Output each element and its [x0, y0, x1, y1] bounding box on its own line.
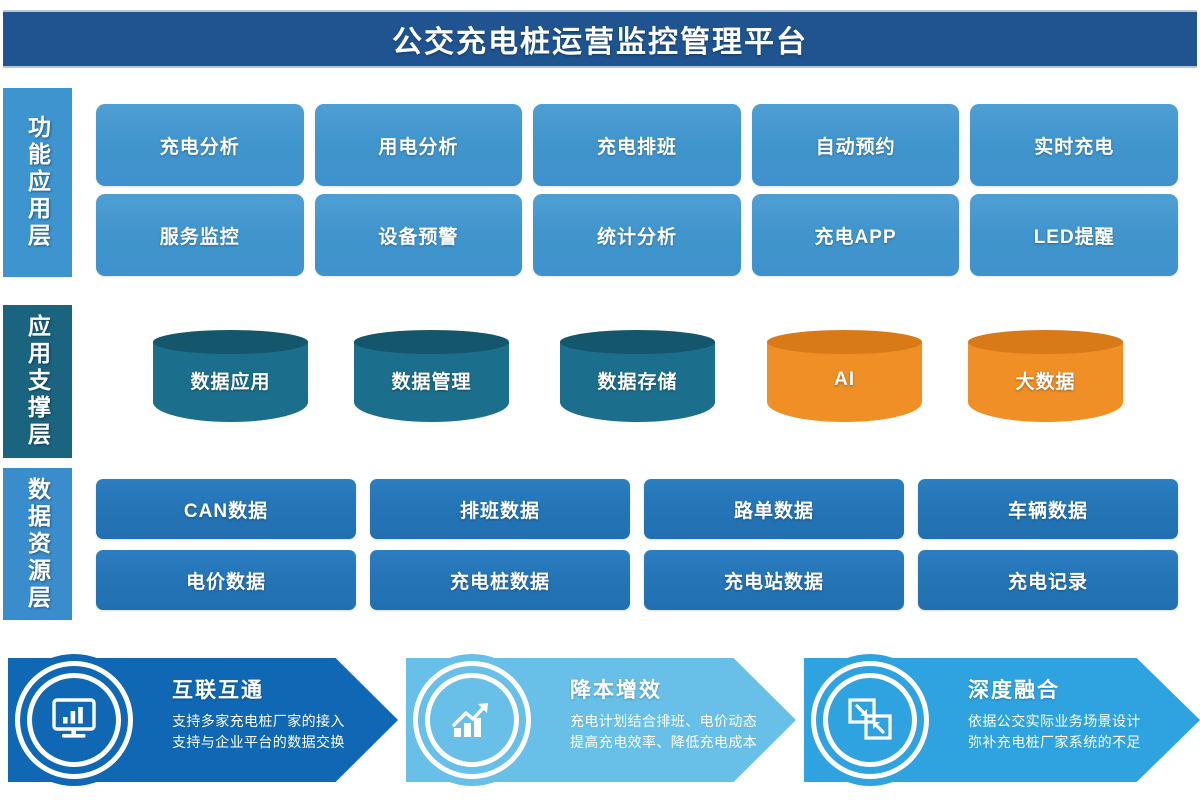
banner-line1-1: 充电计划结合排班、电价动态: [570, 711, 757, 732]
banner-title-0: 互联互通: [172, 674, 345, 704]
data-item-1[interactable]: 排班数据: [370, 479, 630, 539]
function-item-0[interactable]: 充电分析: [96, 104, 304, 186]
banner-title-2: 深度融合: [968, 674, 1141, 704]
banner-icon-rings: [8, 654, 140, 786]
banner-line2-0: 支持与企业平台的数据交换: [172, 732, 345, 753]
banner-icon-rings: [804, 654, 936, 786]
diagram-canvas: 公交充电桩运营监控管理平台 功能应用层 应用支撑层 数据资源层 充电分析 用电分…: [0, 0, 1200, 800]
function-item-2[interactable]: 充电排班: [533, 104, 741, 186]
highlights-row: 互联互通 支持多家充电桩厂家的接入 支持与企业平台的数据交换: [0, 640, 1200, 800]
banner-line1-0: 支持多家充电桩厂家的接入: [172, 711, 345, 732]
data-item-5[interactable]: 充电桩数据: [370, 550, 630, 610]
banner-texts: 降本增效 充电计划结合排班、电价动态 提高充电效率、降低充电成本: [570, 674, 757, 753]
data-item-3[interactable]: 车辆数据: [918, 479, 1178, 539]
banner-title-1: 降本增效: [570, 674, 757, 704]
support-cylinder-4[interactable]: 大数据: [968, 330, 1123, 430]
banner-texts: 互联互通 支持多家充电桩厂家的接入 支持与企业平台的数据交换: [172, 674, 345, 753]
page-title: 公交充电桩运营监控管理平台: [392, 17, 808, 61]
banner-line1-2: 依据公交实际业务场景设计: [968, 711, 1141, 732]
function-item-7[interactable]: 统计分析: [533, 194, 741, 276]
banner-texts: 深度融合 依据公交实际业务场景设计 弥补充电桩厂家系统的不足: [968, 674, 1141, 753]
data-item-0[interactable]: CAN数据: [96, 479, 356, 539]
support-cylinder-0[interactable]: 数据应用: [153, 330, 308, 430]
layer-label-function: 功能应用层: [3, 88, 72, 277]
banner-icon-rings: [406, 654, 538, 786]
growth-chart-icon: [430, 678, 514, 762]
function-item-1[interactable]: 用电分析: [315, 104, 523, 186]
data-item-7[interactable]: 充电记录: [918, 550, 1178, 610]
support-cylinder-label-0: 数据应用: [153, 330, 308, 430]
banner-line2-1: 提高充电效率、降低充电成本: [570, 732, 757, 753]
page-title-bar: 公交充电桩运营监控管理平台: [3, 10, 1197, 68]
function-item-9[interactable]: LED提醒: [970, 194, 1178, 276]
data-item-2[interactable]: 路单数据: [644, 479, 904, 539]
monitor-chart-icon: [32, 678, 116, 762]
support-cylinder-1[interactable]: 数据管理: [354, 330, 509, 430]
data-item-4[interactable]: 电价数据: [96, 550, 356, 610]
support-cylinder-label-2: 数据存储: [560, 330, 715, 430]
layer-label-support: 应用支撑层: [3, 305, 72, 458]
highlight-banner-2[interactable]: 深度融合 依据公交实际业务场景设计 弥补充电桩厂家系统的不足: [796, 640, 1196, 800]
banner-line2-2: 弥补充电桩厂家系统的不足: [968, 732, 1141, 753]
function-item-5[interactable]: 服务监控: [96, 194, 304, 276]
support-cylinder-3[interactable]: AI: [767, 330, 922, 430]
support-cylinder-label-1: 数据管理: [354, 330, 509, 430]
function-item-4[interactable]: 实时充电: [970, 104, 1178, 186]
support-layer-row: 数据应用 数据管理 数据存储 AI 大数据: [96, 330, 1178, 438]
function-item-6[interactable]: 设备预警: [315, 194, 523, 276]
highlight-banner-0[interactable]: 互联互通 支持多家充电桩厂家的接入 支持与企业平台的数据交换: [0, 640, 400, 800]
highlight-banner-1[interactable]: 降本增效 充电计划结合排班、电价动态 提高充电效率、降低充电成本: [398, 640, 798, 800]
function-layer-grid: 充电分析 用电分析 充电排班 自动预约 实时充电 服务监控 设备预警 统计分析 …: [96, 104, 1178, 276]
layer-label-data: 数据资源层: [3, 468, 72, 620]
support-cylinder-2[interactable]: 数据存储: [560, 330, 715, 430]
merge-squares-icon: [828, 678, 912, 762]
support-cylinder-label-3: AI: [767, 330, 922, 430]
data-item-6[interactable]: 充电站数据: [644, 550, 904, 610]
data-layer-grid: CAN数据 排班数据 路单数据 车辆数据 电价数据 充电桩数据 充电站数据 充电…: [96, 479, 1178, 610]
function-item-3[interactable]: 自动预约: [752, 104, 960, 186]
function-item-8[interactable]: 充电APP: [752, 194, 960, 276]
support-cylinder-label-4: 大数据: [968, 330, 1123, 430]
